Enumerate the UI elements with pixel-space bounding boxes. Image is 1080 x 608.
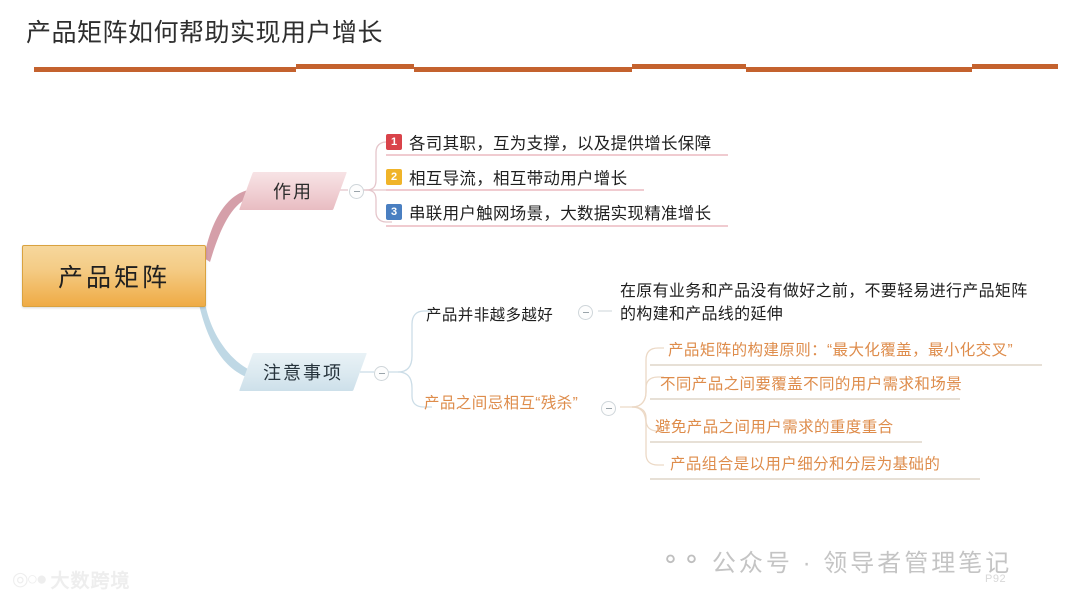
leaf-underline bbox=[650, 364, 1042, 366]
collapse-toggle-zuoyong[interactable] bbox=[349, 184, 364, 199]
minus-icon bbox=[379, 373, 385, 374]
branch-label: 注意事项 bbox=[263, 359, 343, 385]
leaf-node[interactable]: 产品矩阵的构建原则：“最大化覆盖，最小化交叉” bbox=[668, 338, 1013, 360]
site-logo: ◎○● 大数跨境 bbox=[12, 566, 131, 593]
minus-icon bbox=[354, 191, 360, 192]
leaf-underline bbox=[650, 441, 922, 443]
leaf-node[interactable]: 产品组合是以用户细分和分层为基础的 bbox=[670, 452, 940, 474]
subnode-label-cannibalization[interactable]: 产品之间忌相互“残杀” bbox=[424, 391, 578, 413]
subnode-description-product-count: 在原有业务和产品没有做好之前，不要轻易进行产品矩阵的构建和产品线的延伸 bbox=[620, 280, 1040, 326]
site-logo-text: 大数跨境 bbox=[51, 566, 131, 593]
subnode-label-product-count[interactable]: 产品并非越多越好 bbox=[426, 303, 553, 325]
collapse-toggle-product-count[interactable] bbox=[578, 305, 593, 320]
circles-logo-icon: ◎○● bbox=[12, 570, 46, 589]
leaf-underline bbox=[650, 478, 980, 480]
leaf-node[interactable]: 避免产品之间用户需求的重度重合 bbox=[655, 415, 894, 437]
branch-node-zuoyong[interactable]: 作用 bbox=[246, 172, 340, 210]
minus-icon bbox=[606, 408, 612, 409]
item-underline bbox=[386, 154, 728, 156]
item-underline bbox=[386, 189, 644, 191]
branch-label: 作用 bbox=[273, 178, 313, 204]
wechat-icon: ⚬⚬ bbox=[660, 548, 702, 573]
leaf-underline bbox=[650, 398, 960, 400]
page-number: P92 bbox=[985, 573, 1006, 585]
list-item[interactable]: 3 串联用户触网场景，大数据实现精准增长 bbox=[386, 199, 711, 225]
item-number-badge: 3 bbox=[386, 204, 402, 220]
item-underline bbox=[386, 225, 728, 227]
collapse-toggle-cannibalization[interactable] bbox=[601, 401, 616, 416]
list-item[interactable]: 2 相互导流，相互带动用户增长 bbox=[386, 164, 627, 190]
item-number-badge: 2 bbox=[386, 169, 402, 185]
collapse-toggle-zhuyishixiang[interactable] bbox=[374, 366, 389, 381]
item-label: 相互导流，相互带动用户增长 bbox=[409, 165, 627, 189]
footer-brand: ⚬⚬ 公众号 · 领导者管理笔记 bbox=[660, 543, 1012, 578]
root-node-label: 产品矩阵 bbox=[58, 258, 170, 294]
mindmap-canvas: 产品矩阵 作用 1 各司其职，互为支撑，以及提供增长保障 2 相互导流，相互带动… bbox=[0, 0, 1080, 608]
footer-brand-text: 公众号 · 领导者管理笔记 bbox=[712, 543, 1012, 578]
item-label: 串联用户触网场景，大数据实现精准增长 bbox=[409, 200, 711, 224]
branch-node-zhuyishixiang[interactable]: 注意事项 bbox=[246, 353, 360, 391]
list-item[interactable]: 1 各司其职，互为支撑，以及提供增长保障 bbox=[386, 129, 711, 155]
minus-icon bbox=[583, 312, 589, 313]
item-label: 各司其职，互为支撑，以及提供增长保障 bbox=[409, 130, 711, 154]
item-number-badge: 1 bbox=[386, 134, 402, 150]
leaf-node[interactable]: 不同产品之间要覆盖不同的用户需求和场景 bbox=[660, 372, 962, 394]
root-node[interactable]: 产品矩阵 bbox=[22, 245, 206, 307]
